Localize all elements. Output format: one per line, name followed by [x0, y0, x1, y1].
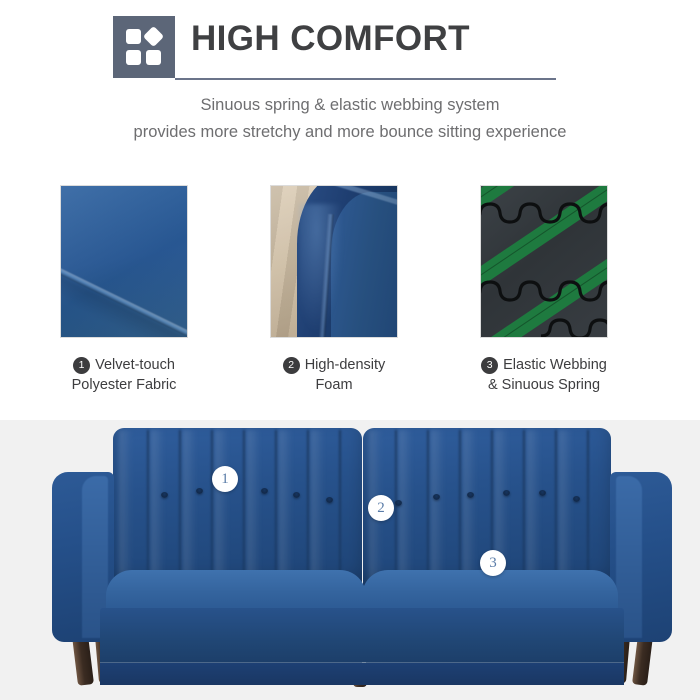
feature-thumbnail-elastic-webbing: [480, 185, 608, 338]
square-top-left-icon: [126, 29, 141, 44]
square-bottom-right-icon: [146, 50, 161, 65]
feature-item-2: 2High-density Foam: [270, 185, 398, 395]
feature-badge-1: 1: [73, 357, 90, 374]
seat-base-left: [100, 608, 366, 670]
feature-caption-3-line-2: & Sinuous Spring: [480, 375, 608, 395]
subtitle-line-1: Sinuous spring & elastic webbing system: [0, 92, 700, 119]
header: HIGH COMFORT: [113, 16, 573, 80]
feature-caption-1: 1Velvet-touch Polyester Fabric: [60, 355, 188, 395]
feature-caption-2-line-2: Foam: [270, 375, 398, 395]
sofa-base-right: [362, 663, 624, 685]
feature-caption-1-line-2: Polyester Fabric: [60, 375, 188, 395]
subtitle-line-2: provides more stretchy and more bounce s…: [0, 119, 700, 146]
feature-badge-3: 3: [481, 357, 498, 374]
subtitle: Sinuous spring & elastic webbing system …: [0, 92, 700, 146]
page-title: HIGH COMFORT: [191, 19, 470, 59]
channel-tufting-left: [113, 428, 362, 588]
info-panel: HIGH COMFORT Sinuous spring & elastic we…: [0, 0, 700, 420]
feature-thumbnail-high-density-foam: [270, 185, 398, 338]
sinuous-spring-icon: [480, 278, 608, 306]
square-bottom-left-icon: [126, 50, 141, 65]
sinuous-spring-icon: [480, 200, 608, 228]
feature-caption-3-line-1: Elastic Webbing: [503, 357, 607, 373]
feature-caption-1-line-1: Velvet-touch: [95, 357, 175, 373]
feature-item-1: 1Velvet-touch Polyester Fabric: [60, 185, 188, 395]
feature-thumbnail-velvet-fabric: [60, 185, 188, 338]
sofa-base-left: [100, 663, 366, 685]
sinuous-spring-icon: [541, 316, 608, 338]
callout-marker-2: 2: [368, 495, 394, 521]
callout-marker-3: 3: [480, 550, 506, 576]
feature-caption-2-line-1: High-density: [305, 357, 386, 373]
seat-base-right: [362, 608, 624, 670]
header-divider: [175, 78, 556, 80]
feature-caption-3: 3Elastic Webbing & Sinuous Spring: [480, 355, 608, 395]
sofa-illustration: 1 2 3: [0, 420, 700, 700]
callout-marker-1: 1: [212, 466, 238, 492]
feature-badge-2: 2: [283, 357, 300, 374]
four-squares-icon: [113, 16, 175, 78]
product-photo: 1 2 3: [0, 420, 700, 700]
backrest-left: [113, 428, 362, 588]
feature-list: 1Velvet-touch Polyester Fabric 2High-den…: [0, 185, 700, 405]
feature-item-3: 3Elastic Webbing & Sinuous Spring: [480, 185, 608, 395]
feature-caption-2: 2High-density Foam: [270, 355, 398, 395]
diamond-top-right-icon: [143, 26, 164, 47]
